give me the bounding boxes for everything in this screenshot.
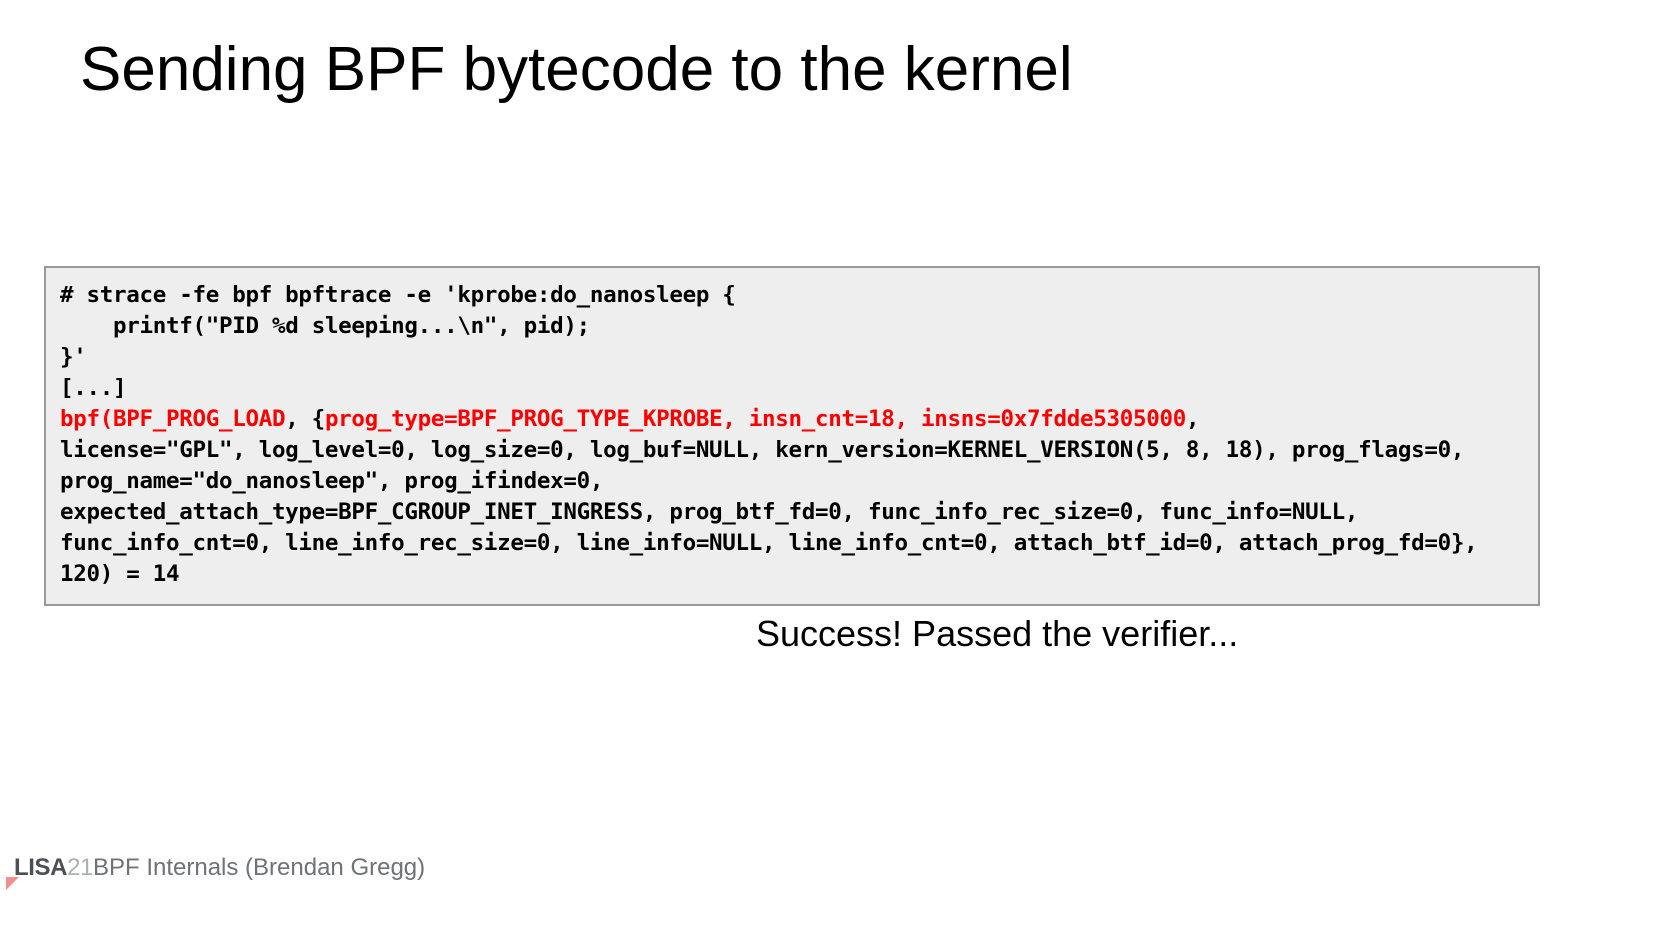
code-segment: , { xyxy=(285,406,325,432)
slide: Sending BPF bytecode to the kernel # str… xyxy=(0,0,1653,930)
code-line: license="GPL", log_level=0, log_size=0, … xyxy=(60,435,1524,497)
code-line: [...] xyxy=(60,373,1524,404)
code-block-content: # strace -fe bpf bpftrace -e 'kprobe:do_… xyxy=(60,280,1524,590)
footer-subtitle: BPF Internals (Brendan Gregg) xyxy=(93,854,425,882)
code-line: }' xyxy=(60,342,1524,373)
code-segment: bpf(BPF_PROG_LOAD xyxy=(60,406,285,432)
code-line: printf("PID %d sleeping...\n", pid); xyxy=(60,311,1524,342)
code-line: # strace -fe bpf bpftrace -e 'kprobe:do_… xyxy=(60,280,1524,311)
footer: LISA21 BPF Internals (Brendan Gregg) xyxy=(14,854,425,882)
footer-logo-secondary: 21 xyxy=(67,854,93,882)
code-segment: , xyxy=(1186,406,1199,432)
page-title: Sending BPF bytecode to the kernel xyxy=(80,36,1073,104)
footer-logo-primary: LISA xyxy=(14,854,67,882)
code-line: bpf(BPF_PROG_LOAD, {prog_type=BPF_PROG_T… xyxy=(60,404,1524,435)
code-line: expected_attach_type=BPF_CGROUP_INET_ING… xyxy=(60,497,1524,590)
code-segment: prog_type=BPF_PROG_TYPE_KPROBE, insn_cnt… xyxy=(325,406,1186,432)
code-block: # strace -fe bpf bpftrace -e 'kprobe:do_… xyxy=(44,266,1540,606)
caption-text: Success! Passed the verifier... xyxy=(756,613,1238,655)
